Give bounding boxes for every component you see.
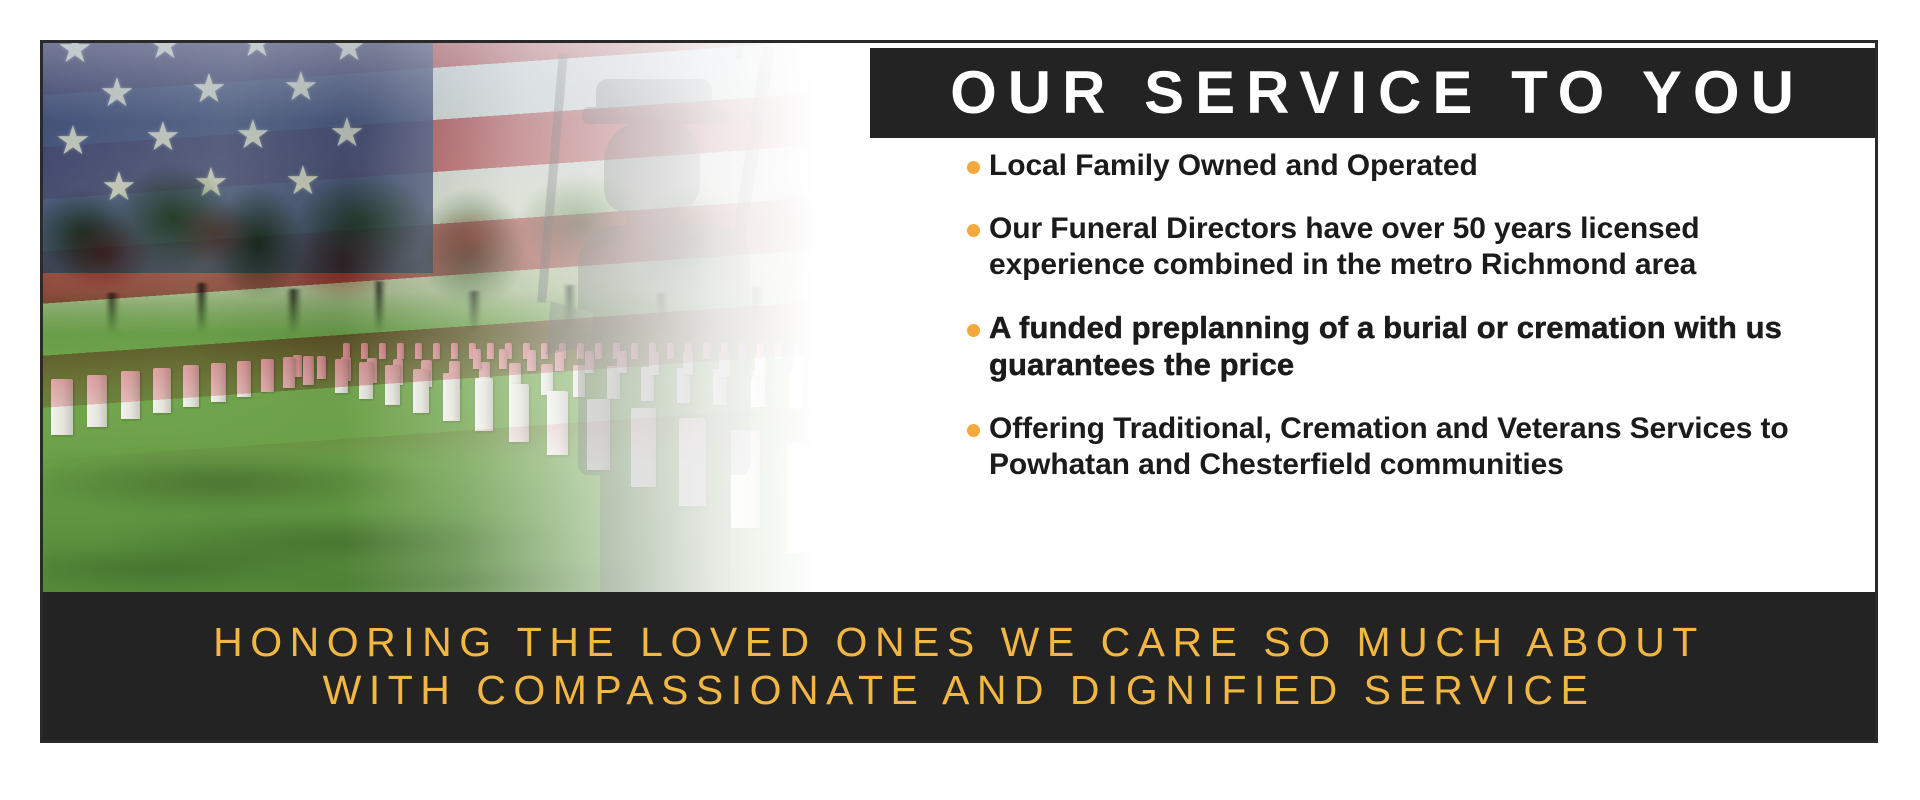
list-item: Our Funeral Directors have over 50 years… [923, 211, 1875, 282]
tagline-line-1: HONORING THE LOVED ONES WE CARE SO MUCH … [213, 618, 1705, 666]
bullet-dot-icon [967, 424, 980, 437]
bullet-dot-icon [967, 224, 980, 237]
tagline-line-2: WITH COMPASSIONATE AND DIGNIFIED SERVICE [323, 666, 1596, 714]
service-bullet-list: Local Family Owned and Operated Our Fune… [923, 138, 1875, 592]
list-item-label: Local Family Owned and Operated [989, 148, 1478, 183]
list-item-label: Offering Traditional, Cremation and Vete… [989, 411, 1859, 482]
soldier-legs [600, 453, 730, 592]
bullet-dot-icon [967, 324, 980, 337]
list-item: A funded preplanning of a burial or crem… [923, 310, 1875, 383]
bullet-dot-icon [967, 161, 980, 174]
advertisement-canvas: ★ ★ ★ ★ ★ ★ ★ ★ ★ ★ ★ ★ ★ ★ [0, 0, 1920, 800]
soldier-cap-crown [596, 79, 712, 109]
photo-composite: ★ ★ ★ ★ ★ ★ ★ ★ ★ ★ ★ ★ ★ ★ [43, 43, 923, 592]
list-item-label: A funded preplanning of a burial or crem… [989, 310, 1859, 383]
banner-frame: ★ ★ ★ ★ ★ ★ ★ ★ ★ ★ ★ ★ ★ ★ [40, 40, 1878, 743]
tagline-band: HONORING THE LOVED ONES WE CARE SO MUCH … [43, 592, 1875, 740]
page-title: OUR SERVICE TO YOU [940, 63, 1805, 123]
list-item: Offering Traditional, Cremation and Vete… [923, 411, 1875, 482]
soldier-head [604, 121, 700, 213]
list-item-label: Our Funeral Directors have over 50 years… [989, 211, 1859, 282]
upper-region: ★ ★ ★ ★ ★ ★ ★ ★ ★ ★ ★ ★ ★ ★ [43, 43, 1875, 592]
list-item: Local Family Owned and Operated [923, 148, 1875, 183]
header-bar: OUR SERVICE TO YOU [870, 48, 1875, 138]
soldier-silhouette-icon [548, 53, 808, 592]
